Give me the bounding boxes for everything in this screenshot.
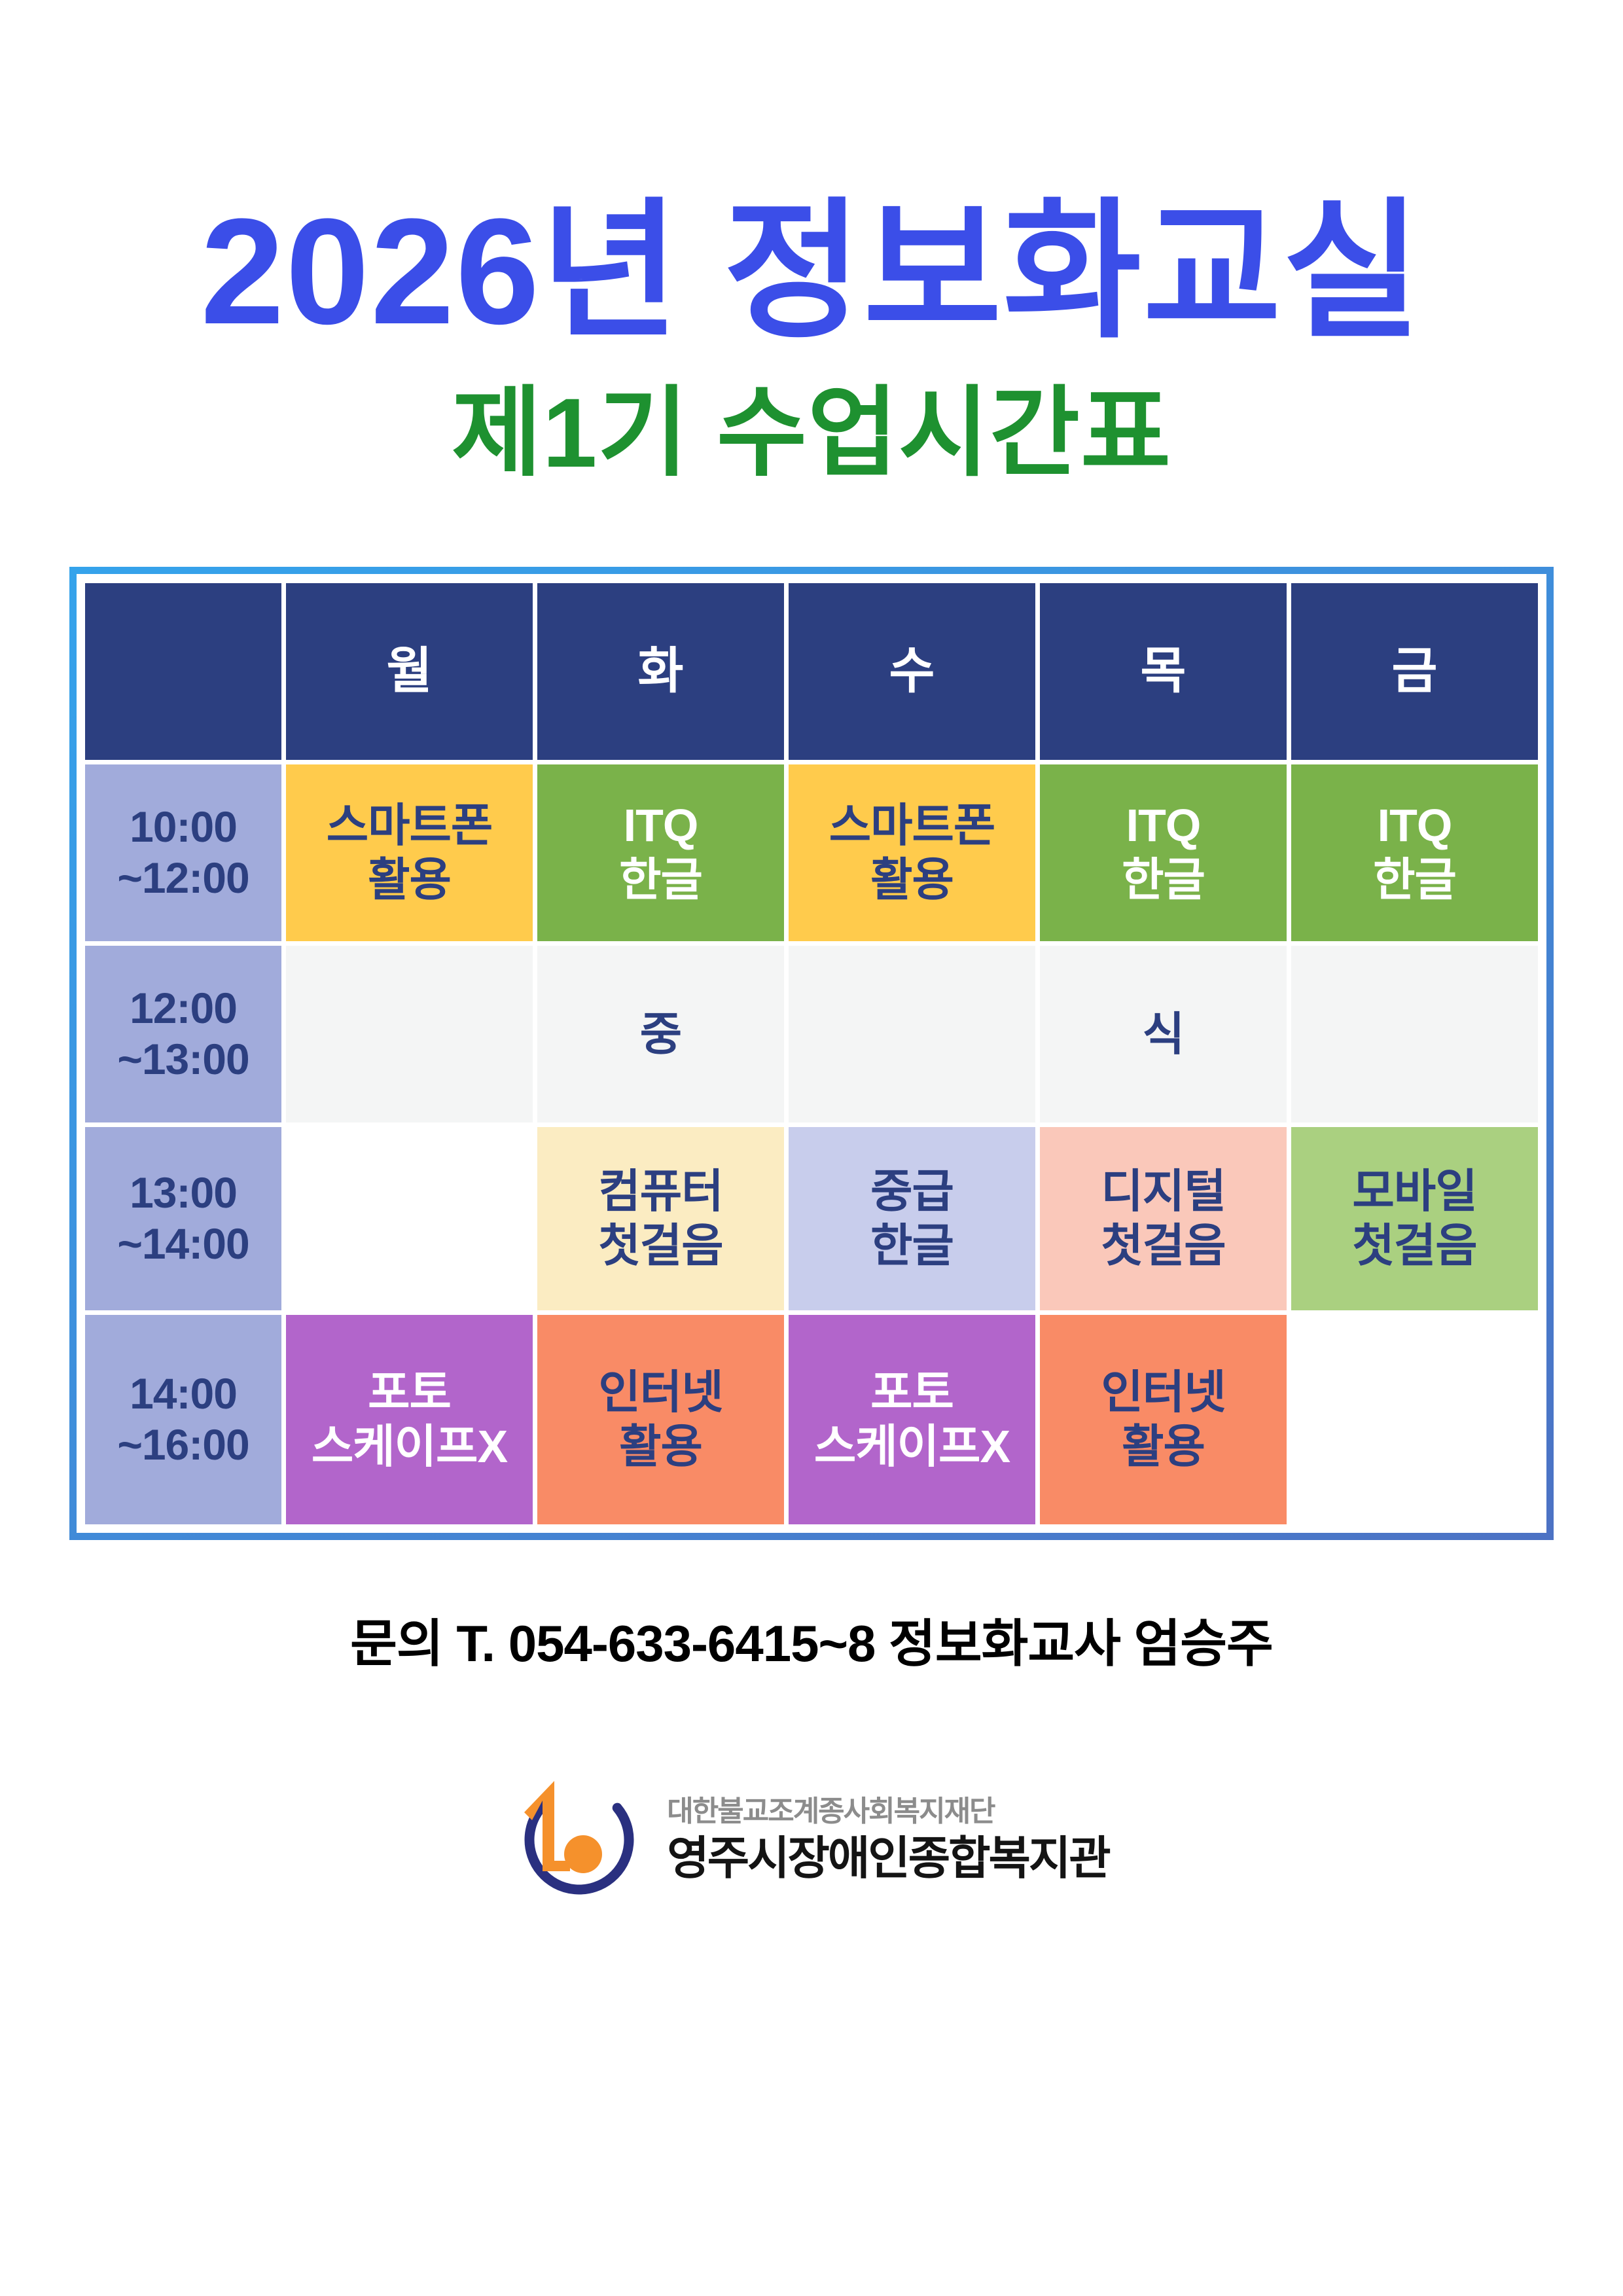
class-name-line1: ITQ (537, 798, 784, 853)
class-cell-tue-4[interactable]: 인터넷 활용 (537, 1315, 784, 1524)
class-name-line1: 스마트폰 (789, 798, 1035, 853)
class-cell-thu-1[interactable]: ITQ 한글 (1040, 764, 1287, 941)
time-end: ~13:00 (85, 1034, 281, 1085)
class-name-line2: 한글 (789, 1219, 1035, 1273)
class-cell-mon-3 (286, 1127, 533, 1310)
time-slot-3: 13:00 ~14:00 (85, 1127, 281, 1310)
class-name-line1: ITQ (1040, 798, 1287, 853)
class-cell-wed-4[interactable]: 포토 스케이프X (789, 1315, 1035, 1524)
header-corner-cell (85, 583, 281, 760)
time-end: ~12:00 (85, 853, 281, 904)
schedule-table-frame: 월 화 수 목 금 10:00 ~12:00 스마트폰 (69, 567, 1554, 1540)
time-slot-4: 14:00 ~16:00 (85, 1315, 281, 1524)
class-name-line1: 인터넷 (1040, 1365, 1287, 1420)
logo-text-block: 대한불교조계종사회복지재단 영주시장애인종합복지관 (667, 1797, 1109, 1883)
day-header-fri: 금 (1291, 583, 1538, 760)
day-header-thu: 목 (1040, 583, 1287, 760)
table-row: 12:00 ~13:00 중 식 (85, 946, 1538, 1122)
page-subtitle: 제1기 수업시간표 (0, 384, 1623, 482)
class-name-line1: 디지털 (1040, 1164, 1287, 1219)
time-start: 14:00 (85, 1369, 281, 1420)
foundation-name: 대한불교조계종사회복지재단 (667, 1797, 1109, 1827)
class-name-line1: 컴퓨터 (537, 1164, 784, 1219)
class-cell-fri-3[interactable]: 모바일 첫걸음 (1291, 1127, 1538, 1310)
class-name-line2: 첫걸음 (1040, 1219, 1287, 1273)
class-name-line2: 한글 (537, 853, 784, 907)
table-row: 14:00 ~16:00 포토 스케이프X 인터넷 활용 포토 (85, 1315, 1538, 1524)
class-name-line1: 모바일 (1291, 1164, 1538, 1219)
class-cell-wed-3[interactable]: 중급 한글 (789, 1127, 1035, 1310)
organization-logo: 대한불교조계종사회복지재단 영주시장애인종합복지관 (514, 1774, 1109, 1905)
title-block: 2026년 정보화교실 제1기 수업시간표 (0, 0, 1623, 482)
class-cell-fri-4 (1291, 1315, 1538, 1524)
time-end: ~14:00 (85, 1219, 281, 1270)
time-slot-2: 12:00 ~13:00 (85, 946, 281, 1122)
schedule-table-body: 10:00 ~12:00 스마트폰 활용 ITQ 한글 스마트폰 (85, 764, 1538, 1524)
class-name-line1: 포토 (286, 1365, 533, 1420)
class-name-line2: 활용 (789, 853, 1035, 907)
class-name-line1: 중급 (789, 1164, 1035, 1219)
page-title: 2026년 정보화교실 (0, 196, 1623, 347)
class-name-line2: 한글 (1291, 853, 1538, 907)
class-cell-mon-1[interactable]: 스마트폰 활용 (286, 764, 533, 941)
class-name-line2: 스케이프X (789, 1420, 1035, 1474)
time-end: ~16:00 (85, 1420, 281, 1471)
schedule-table-head: 월 화 수 목 금 (85, 583, 1538, 760)
class-name-line2: 활용 (1040, 1420, 1287, 1474)
class-name-line2: 한글 (1040, 853, 1287, 907)
time-slot-1: 10:00 ~12:00 (85, 764, 281, 941)
lunch-label-part2: 식 (1040, 1007, 1287, 1062)
class-name-line2: 활용 (286, 853, 533, 907)
day-header-tue: 화 (537, 583, 784, 760)
contact-info: 문의 T. 054-633-6415~8 정보화교사 엄승주 (350, 1603, 1273, 1676)
class-cell-thu-4[interactable]: 인터넷 활용 (1040, 1315, 1287, 1524)
table-row: 13:00 ~14:00 컴퓨터 첫걸음 중급 한글 (85, 1127, 1538, 1310)
class-cell-tue-1[interactable]: ITQ 한글 (537, 764, 784, 941)
class-cell-fri-1[interactable]: ITQ 한글 (1291, 764, 1538, 941)
schedule-table-inner: 월 화 수 목 금 10:00 ~12:00 스마트폰 (77, 574, 1546, 1533)
class-cell-mon-2 (286, 946, 533, 1122)
welfare-center-logo-icon (514, 1774, 645, 1905)
time-start: 12:00 (85, 983, 281, 1034)
lunch-cell-thu: 식 (1040, 946, 1287, 1122)
class-cell-fri-2 (1291, 946, 1538, 1122)
table-row: 10:00 ~12:00 스마트폰 활용 ITQ 한글 스마트폰 (85, 764, 1538, 941)
class-name-line2: 첫걸음 (1291, 1219, 1538, 1273)
class-cell-tue-3[interactable]: 컴퓨터 첫걸음 (537, 1127, 784, 1310)
class-name-line1: 포토 (789, 1365, 1035, 1420)
class-name-line1: 인터넷 (537, 1365, 784, 1420)
class-cell-mon-4[interactable]: 포토 스케이프X (286, 1315, 533, 1524)
class-cell-wed-1[interactable]: 스마트폰 활용 (789, 764, 1035, 941)
class-name-line2: 활용 (537, 1420, 784, 1474)
welfare-center-name: 영주시장애인종합복지관 (667, 1835, 1109, 1883)
lunch-label-part1: 중 (537, 1007, 784, 1062)
time-start: 13:00 (85, 1168, 281, 1219)
day-header-mon: 월 (286, 583, 533, 760)
class-cell-thu-3[interactable]: 디지털 첫걸음 (1040, 1127, 1287, 1310)
day-header-wed: 수 (789, 583, 1035, 760)
schedule-table: 월 화 수 목 금 10:00 ~12:00 스마트폰 (80, 579, 1543, 1529)
class-name-line2: 첫걸음 (537, 1219, 784, 1273)
class-name-line2: 스케이프X (286, 1420, 533, 1474)
class-name-line1: 스마트폰 (286, 798, 533, 853)
time-start: 10:00 (85, 802, 281, 853)
class-cell-wed-2 (789, 946, 1035, 1122)
class-name-line1: ITQ (1291, 798, 1538, 853)
lunch-cell-tue: 중 (537, 946, 784, 1122)
poster-root: 2026년 정보화교실 제1기 수업시간표 월 화 수 목 금 (0, 0, 1623, 2296)
table-header-row: 월 화 수 목 금 (85, 583, 1538, 760)
